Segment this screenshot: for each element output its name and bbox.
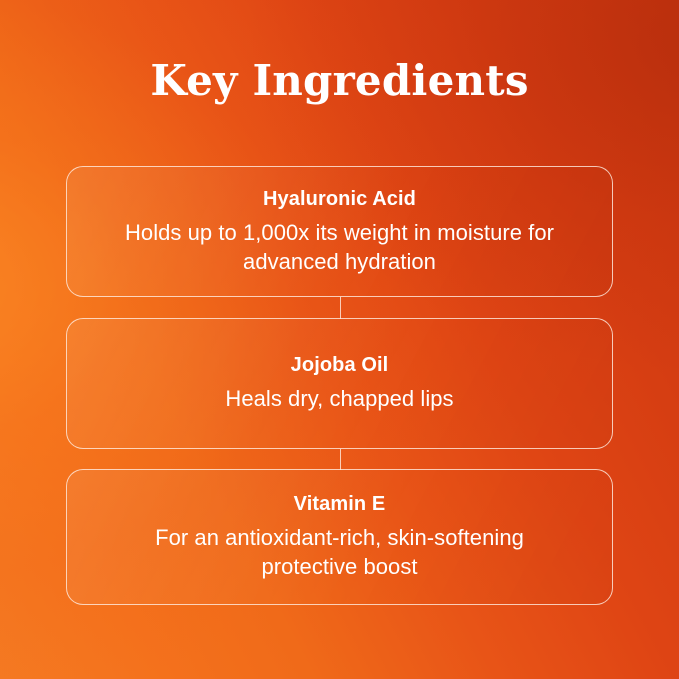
page-title: Key Ingredients — [0, 58, 679, 104]
ingredient-description: Holds up to 1,000x its weight in moistur… — [125, 219, 555, 276]
ingredient-card-jojoba-oil: Jojoba Oil Heals dry, chapped lips — [66, 318, 613, 449]
key-ingredients-poster: Key Ingredients Hyaluronic Acid Holds up… — [0, 0, 679, 679]
ingredient-card-list: Hyaluronic Acid Holds up to 1,000x its w… — [66, 166, 613, 605]
card-connector-line — [340, 449, 341, 470]
ingredient-name: Hyaluronic Acid — [263, 187, 416, 212]
ingredient-card-vitamin-e: Vitamin E For an antioxidant-rich, skin-… — [66, 469, 613, 605]
ingredient-description: For an antioxidant-rich, skin-softening … — [125, 524, 555, 581]
ingredient-card-hyaluronic-acid: Hyaluronic Acid Holds up to 1,000x its w… — [66, 166, 613, 297]
card-connector-line — [340, 297, 341, 319]
ingredient-name: Jojoba Oil — [291, 353, 389, 378]
ingredient-description: Heals dry, chapped lips — [225, 385, 453, 414]
ingredient-name: Vitamin E — [294, 492, 386, 517]
